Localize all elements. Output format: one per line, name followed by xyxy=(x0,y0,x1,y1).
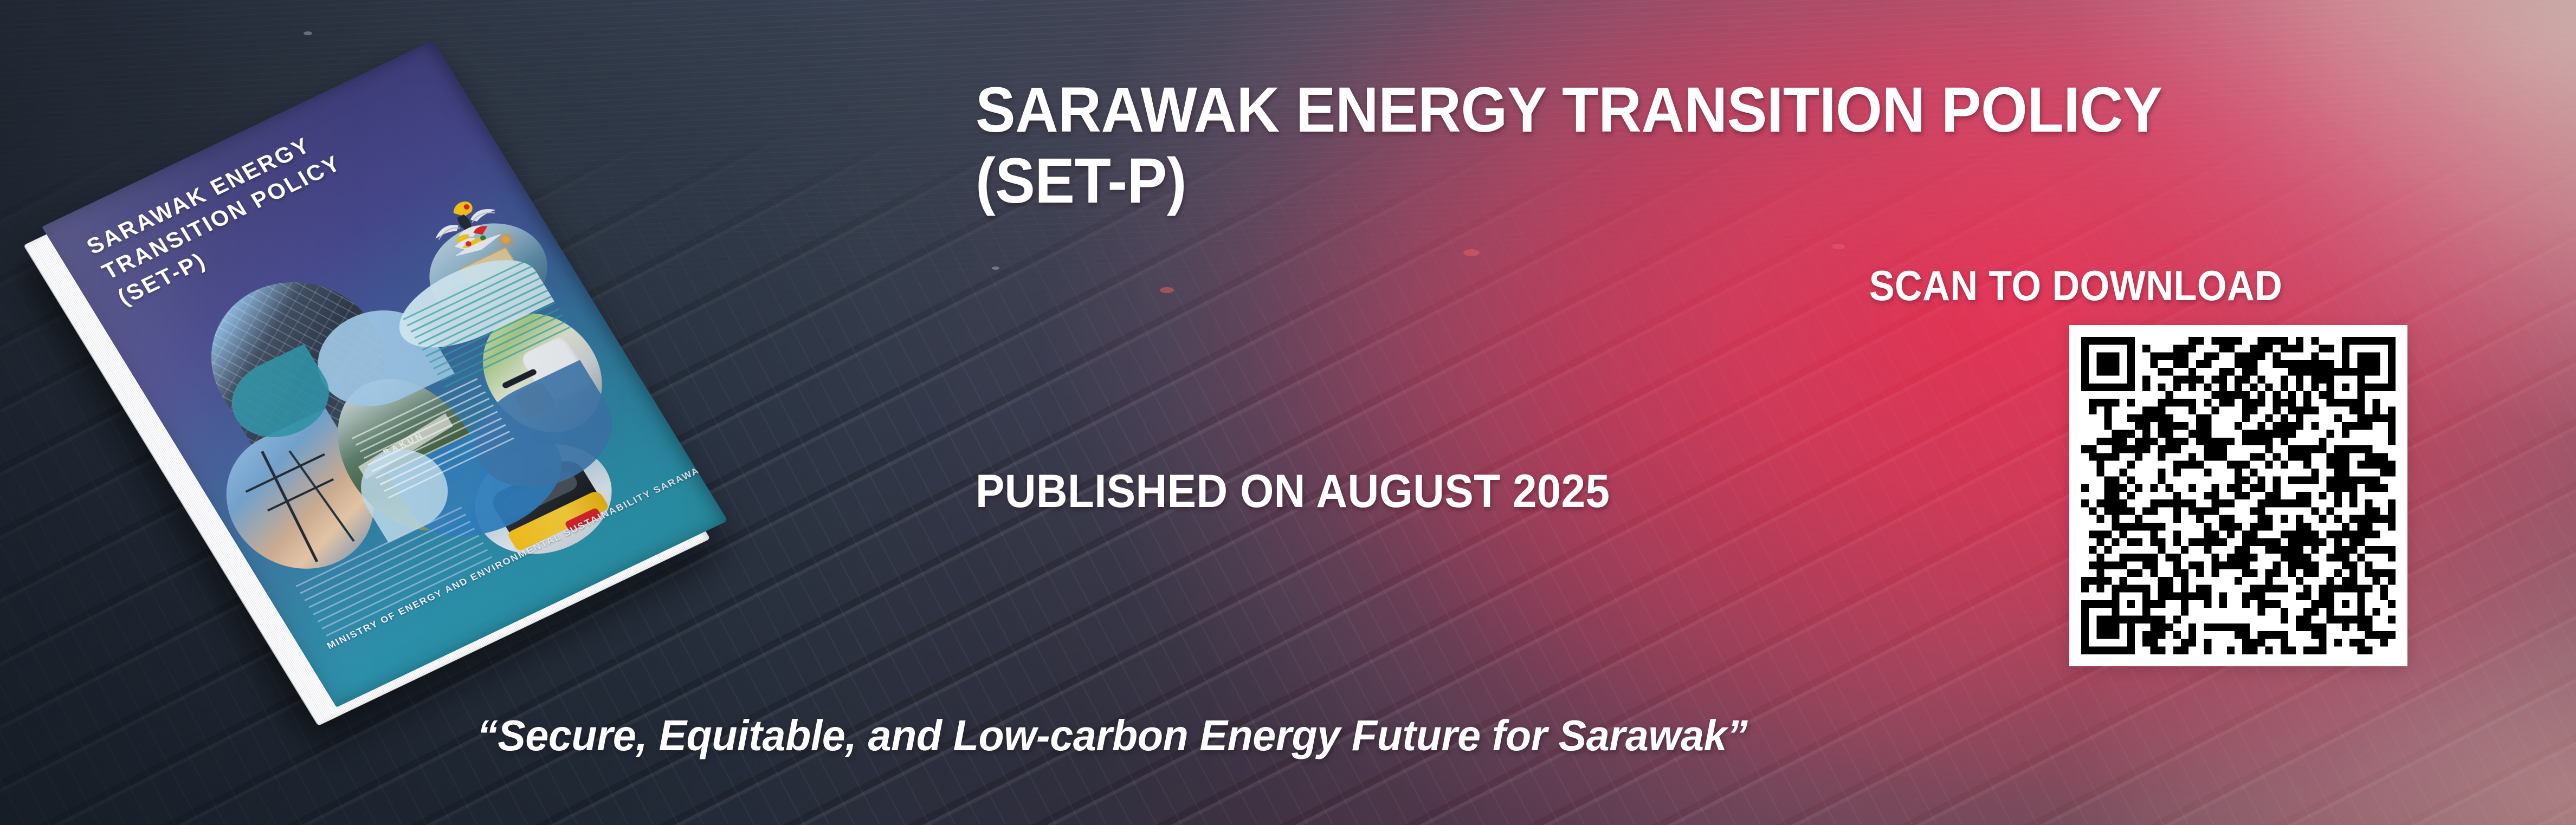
cover-gloss xyxy=(42,40,728,707)
book-mockup: BAKUN xyxy=(49,65,883,704)
distant-boat-speck xyxy=(1463,249,1480,256)
distant-boat-speck xyxy=(304,31,312,35)
page-title: SARAWAK ENERGY TRANSITION POLICY (SET-P) xyxy=(976,75,2303,217)
tagline: “Secure, Equitable, and Low-carbon Energ… xyxy=(477,711,1747,761)
book-front-cover: BAKUN xyxy=(42,40,728,707)
page-title-line-2: (SET-P) xyxy=(976,146,2303,217)
distant-boat-speck xyxy=(992,267,999,270)
distant-boat-speck xyxy=(1832,244,1845,249)
promotional-banner: BAKUN xyxy=(0,0,2576,825)
scan-to-download-label: SCAN TO DOWNLOAD xyxy=(1729,261,2422,310)
book-3d: BAKUN xyxy=(42,40,728,707)
page-title-line-1: SARAWAK ENERGY TRANSITION POLICY xyxy=(976,75,2303,146)
distant-boat-speck xyxy=(1160,287,1174,293)
qr-code[interactable] xyxy=(2069,325,2407,666)
publication-date: PUBLISHED ON AUGUST 2025 xyxy=(976,465,1610,518)
qr-code-canvas[interactable] xyxy=(2081,337,2396,654)
